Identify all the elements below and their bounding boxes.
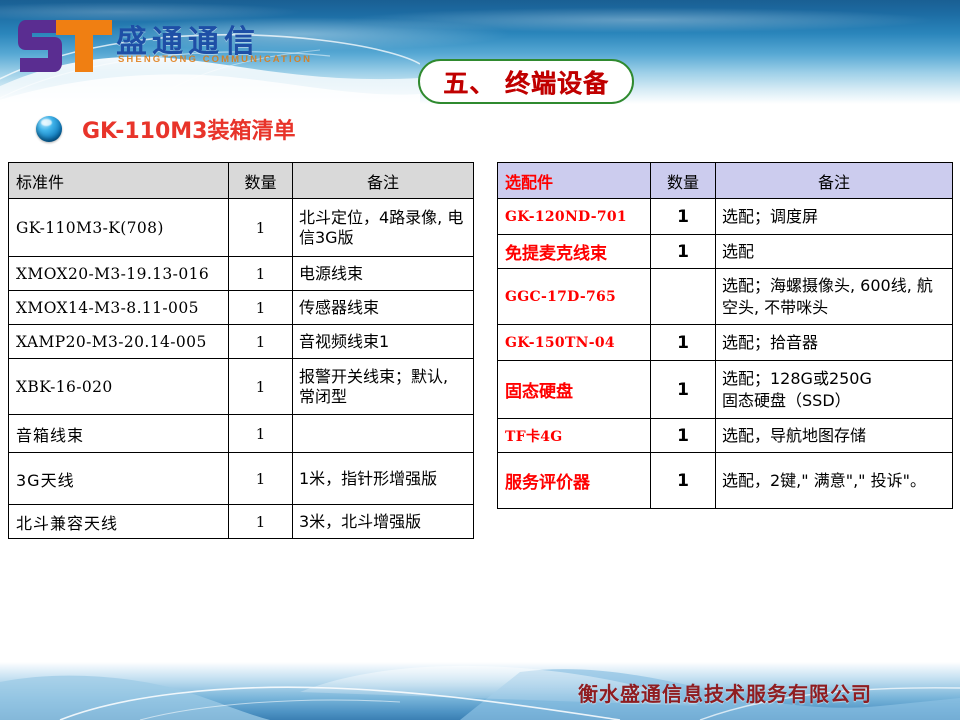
header-standard-name: 标准件 (9, 163, 229, 199)
cell-part-name: TF卡4G (498, 419, 651, 453)
cell-quantity: 1 (651, 453, 716, 509)
cell-quantity: 1 (229, 257, 293, 291)
cell-quantity: 1 (229, 325, 293, 359)
blue-sphere-bullet-icon (36, 116, 62, 142)
cell-remark: 选配，导航地图存储 (716, 419, 953, 453)
header-optional-qty: 数量 (651, 163, 716, 199)
standard-table-head: 标准件 数量 备注 (9, 163, 474, 199)
cell-remark: 选配 (716, 235, 953, 269)
table-row: XMOX14-M3-8.11-0051传感器线束 (9, 291, 474, 325)
cell-quantity: 1 (651, 361, 716, 419)
table-row: XMOX20-M3-19.13-0161电源线束 (9, 257, 474, 291)
cell-part-name: XBK-16-020 (9, 359, 229, 415)
cell-part-name: 服务评价器 (498, 453, 651, 509)
cell-part-name: GK-150TN-04 (498, 325, 651, 361)
cell-remark: 音视频线束1 (293, 325, 474, 359)
standard-table-body: GK-110M3-K(708)1北斗定位，4路录像, 电信3G版XMOX20-M… (9, 199, 474, 539)
table-row: 服务评价器1选配，2键," 满意"," 投诉"。 (498, 453, 953, 509)
table-row: GK-110M3-K(708)1北斗定位，4路录像, 电信3G版 (9, 199, 474, 257)
header-standard-qty: 数量 (229, 163, 293, 199)
optional-table-body: GK-120ND-7011选配；调度屏免提麦克线束1选配GGC-17D-765选… (498, 199, 953, 509)
cell-quantity: 1 (651, 325, 716, 361)
cell-remark: 选配；拾音器 (716, 325, 953, 361)
table-row: 免提麦克线束1选配 (498, 235, 953, 269)
cell-part-name: XAMP20-M3-20.14-005 (9, 325, 229, 359)
cell-part-name: XMOX20-M3-19.13-016 (9, 257, 229, 291)
cell-remark: 3米，北斗增强版 (293, 505, 474, 539)
cell-remark (293, 415, 474, 453)
cell-part-name: 免提麦克线束 (498, 235, 651, 269)
company-logo: 盛通通信 SHENGTONG COMMUNICATION (18, 14, 318, 76)
cell-remark: 1米，指针形增强版 (293, 453, 474, 505)
subtitle-text: GK-110M3装箱清单 (82, 113, 295, 145)
cell-remark: 传感器线束 (293, 291, 474, 325)
cell-quantity: 1 (229, 453, 293, 505)
section-title-text: 五、 终端设备 (443, 64, 609, 100)
cell-remark: 电源线束 (293, 257, 474, 291)
footer-company-name: 衡水盛通信息技术服务有限公司 (578, 678, 872, 707)
table-row: GK-120ND-7011选配；调度屏 (498, 199, 953, 235)
cell-quantity: 1 (229, 505, 293, 539)
table-row: 固态硬盘1选配；128G或250G固态硬盘（SSD） (498, 361, 953, 419)
slide-subtitle: GK-110M3装箱清单 (36, 113, 295, 145)
header-standard-note: 备注 (293, 163, 474, 199)
cell-quantity: 1 (229, 359, 293, 415)
cell-part-name: GGC-17D-765 (498, 269, 651, 325)
cell-quantity: 1 (651, 199, 716, 235)
cell-remark: 选配；128G或250G固态硬盘（SSD） (716, 361, 953, 419)
cell-part-name: XMOX14-M3-8.11-005 (9, 291, 229, 325)
header-optional-name: 选配件 (498, 163, 651, 199)
table-header-row: 标准件 数量 备注 (9, 163, 474, 199)
optional-table-head: 选配件 数量 备注 (498, 163, 953, 199)
standard-parts-table: 标准件 数量 备注 GK-110M3-K(708)1北斗定位，4路录像, 电信3… (8, 162, 474, 539)
cell-part-name: 音箱线束 (9, 415, 229, 453)
cell-remark: 选配；海螺摄像头, 600线, 航空头, 不带咪头 (716, 269, 953, 325)
cell-quantity: 1 (229, 415, 293, 453)
cell-remark: 选配，2键," 满意"," 投诉"。 (716, 453, 953, 509)
cell-part-name: GK-120ND-701 (498, 199, 651, 235)
cell-part-name: GK-110M3-K(708) (9, 199, 229, 257)
cell-quantity: 1 (651, 235, 716, 269)
table-row: XAMP20-M3-20.14-0051音视频线束1 (9, 325, 474, 359)
cell-remark: 北斗定位，4路录像, 电信3G版 (293, 199, 474, 257)
table-row: GGC-17D-765选配；海螺摄像头, 600线, 航空头, 不带咪头 (498, 269, 953, 325)
section-title-pill: 五、 终端设备 (418, 59, 634, 104)
table-row: TF卡4G1选配，导航地图存储 (498, 419, 953, 453)
cell-quantity (651, 269, 716, 325)
cell-part-name: 3G天线 (9, 453, 229, 505)
cell-quantity: 1 (229, 291, 293, 325)
table-row: 音箱线束1 (9, 415, 474, 453)
table-row: GK-150TN-041选配；拾音器 (498, 325, 953, 361)
cell-remark: 报警开关线束；默认, 常闭型 (293, 359, 474, 415)
table-row: XBK-16-0201报警开关线束；默认, 常闭型 (9, 359, 474, 415)
table-header-row: 选配件 数量 备注 (498, 163, 953, 199)
cell-quantity: 1 (229, 199, 293, 257)
cell-quantity: 1 (651, 419, 716, 453)
optional-parts-table: 选配件 数量 备注 GK-120ND-7011选配；调度屏免提麦克线束1选配GG… (497, 162, 953, 509)
cell-part-name: 固态硬盘 (498, 361, 651, 419)
header-optional-note: 备注 (716, 163, 953, 199)
cell-part-name: 北斗兼容天线 (9, 505, 229, 539)
logo-company-en: SHENGTONG COMMUNICATION (118, 54, 312, 65)
table-row: 北斗兼容天线13米，北斗增强版 (9, 505, 474, 539)
table-row: 3G天线11米，指针形增强版 (9, 453, 474, 505)
logo-mark-icon (18, 14, 114, 76)
cell-remark: 选配；调度屏 (716, 199, 953, 235)
